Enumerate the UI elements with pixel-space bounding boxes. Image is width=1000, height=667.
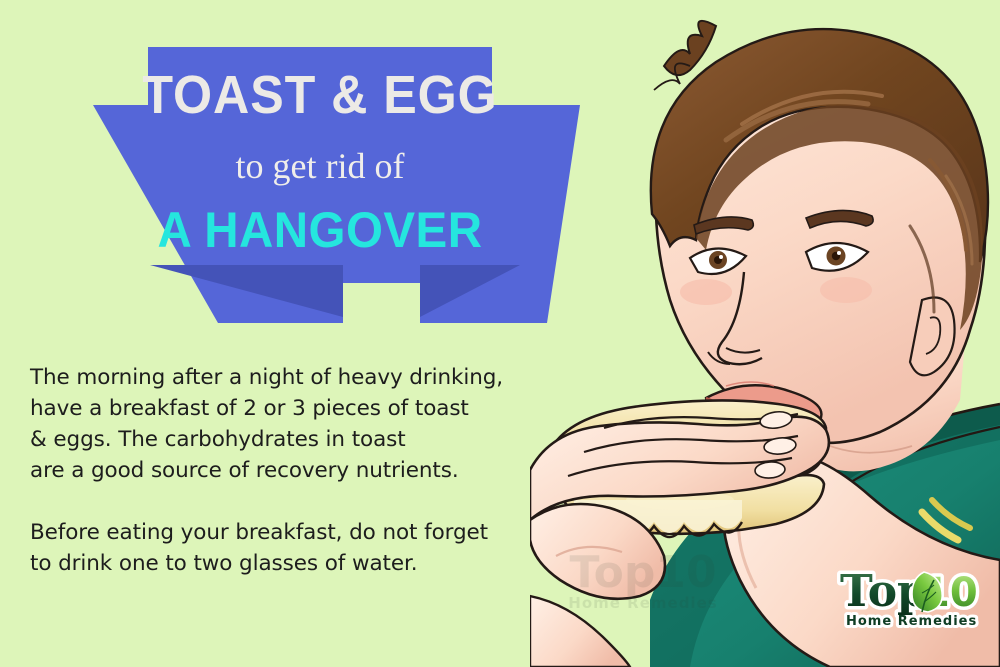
body-line: have a breakfast of 2 or 3 pieces of toa…: [30, 393, 540, 424]
paragraph-2: Before eating your breakfast, do not for…: [30, 517, 540, 579]
head-shape: [651, 21, 988, 443]
logo-svg: Top 10 Home Remedies Top 10 Home Remedie…: [836, 562, 986, 640]
title-banner: [60, 20, 580, 325]
poster-root: TOAST & EGG to get rid of A HANGOVER The…: [0, 0, 1000, 667]
banner-svg: [60, 20, 580, 325]
paragraph-1: The morning after a night of heavy drink…: [30, 362, 540, 486]
top10-home-remedies-logo: Top 10 Home Remedies Top 10 Home Remedie…: [836, 562, 986, 640]
body-copy: The morning after a night of heavy drink…: [30, 362, 540, 579]
body-line: to drink one to two glasses of water.: [30, 548, 540, 579]
logo-tagline: Home Remedies: [846, 614, 977, 629]
body-line: & eggs. The carbohydrates in toast: [30, 424, 540, 455]
body-line: The morning after a night of heavy drink…: [30, 362, 540, 393]
body-line: are a good source of recovery nutrients.: [30, 455, 540, 486]
body-line: Before eating your breakfast, do not for…: [30, 517, 540, 548]
